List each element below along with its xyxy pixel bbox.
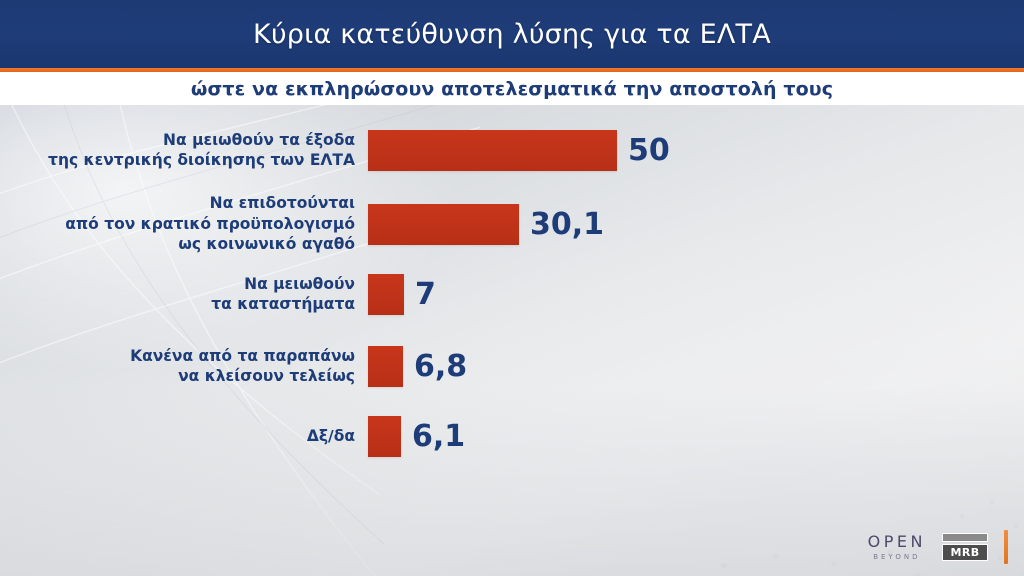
header-band: Κύρια κατεύθυνση λύσης για τα ΕΛΤΑ bbox=[0, 0, 1024, 68]
chart-area: Να μειωθούν τα έξοδα της κεντρικής διοίκ… bbox=[0, 105, 1024, 576]
mrb-logo-bar bbox=[942, 533, 988, 542]
bar-track: 50 bbox=[368, 130, 1024, 171]
open-logo-wordmark: OPEN bbox=[868, 534, 926, 550]
bar-track: 6,8 bbox=[368, 346, 1024, 387]
open-beyond-logo: OPEN BEYOND bbox=[868, 534, 926, 561]
bar-value-label: 7 bbox=[415, 277, 436, 312]
mrb-logo-text: MRB bbox=[950, 546, 979, 559]
bar-track: 7 bbox=[368, 274, 1024, 315]
chart-row: Δξ/δα 6,1 bbox=[0, 405, 1024, 467]
bar bbox=[368, 416, 401, 457]
category-label: Δξ/δα bbox=[0, 426, 368, 446]
bar bbox=[368, 274, 404, 315]
bar bbox=[368, 130, 617, 171]
category-label: Να μειωθούν τα καταστήματα bbox=[0, 274, 368, 315]
category-label: Να μειωθούν τα έξοδα της κεντρικής διοίκ… bbox=[0, 130, 368, 171]
footer-logos: OPEN BEYOND MRB bbox=[868, 530, 1008, 564]
page-title: Κύρια κατεύθυνση λύσης για τα ΕΛΤΑ bbox=[253, 19, 771, 50]
bar-value-label: 30,1 bbox=[530, 207, 604, 242]
chart-row: Να μειωθούν τα έξοδα της κεντρικής διοίκ… bbox=[0, 119, 1024, 181]
category-label: Να επιδοτούνται από τον κρατικό προϋπολο… bbox=[0, 193, 368, 254]
chart-row: Να επιδοτούνται από τον κρατικό προϋπολο… bbox=[0, 189, 1024, 259]
mrb-logo-box: MRB bbox=[942, 544, 988, 561]
slide-root: Κύρια κατεύθυνση λύσης για τα ΕΛΤΑ ώστε … bbox=[0, 0, 1024, 576]
bar bbox=[368, 346, 403, 387]
bar-track: 6,1 bbox=[368, 416, 1024, 457]
mrb-logo: MRB bbox=[942, 533, 988, 561]
page-subtitle: ώστε να εκπληρώσουν αποτελεσματικά την α… bbox=[191, 78, 833, 100]
open-logo-tagline: BEYOND bbox=[873, 554, 920, 561]
category-label: Κανένα από τα παραπάνω να κλείσουν τελεί… bbox=[0, 346, 368, 387]
accent-tick bbox=[1004, 530, 1008, 564]
bar-rows: Να μειωθούν τα έξοδα της κεντρικής διοίκ… bbox=[0, 105, 1024, 525]
subtitle-band: ώστε να εκπληρώσουν αποτελεσματικά την α… bbox=[0, 72, 1024, 105]
chart-row: Κανένα από τα παραπάνω να κλείσουν τελεί… bbox=[0, 335, 1024, 397]
bar-value-label: 6,8 bbox=[414, 349, 467, 384]
bar-track: 30,1 bbox=[368, 204, 1024, 245]
bar bbox=[368, 204, 519, 245]
bar-value-label: 50 bbox=[628, 133, 670, 168]
bar-value-label: 6,1 bbox=[412, 419, 465, 454]
chart-row: Να μειωθούν τα καταστήματα 7 bbox=[0, 263, 1024, 325]
